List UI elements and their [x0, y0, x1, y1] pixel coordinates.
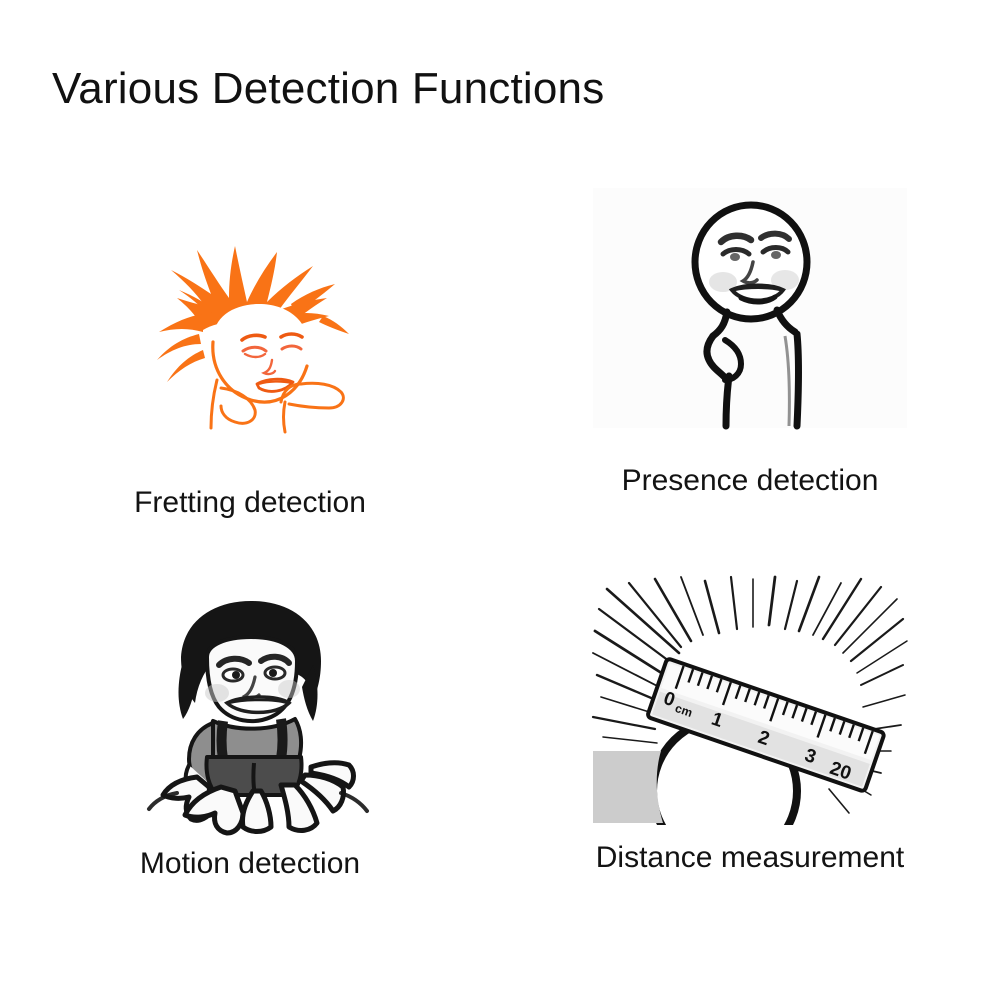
card-caption-motion: Motion detection	[140, 845, 360, 883]
standing-stick-figure-icon	[585, 184, 915, 434]
card-caption-distance: Distance measurement	[596, 839, 904, 877]
page-root: Various Detection Functions	[0, 0, 1000, 1000]
spiky-orange-hair-face-icon	[85, 212, 415, 462]
card-distance-measurement[interactable]: 0 cm 1 2 3 20 Distance measurement	[500, 565, 1000, 960]
card-caption-presence: Presence detection	[622, 462, 879, 500]
card-presence-detection[interactable]: Presence detection	[500, 170, 1000, 565]
card-fretting-detection[interactable]: Fretting detection	[0, 170, 500, 565]
running-figure-icon	[85, 587, 415, 837]
ruler-over-head-icon: 0 cm 1 2 3 20	[585, 575, 915, 825]
card-motion-detection[interactable]: Motion detection	[0, 565, 500, 960]
card-caption-fretting: Fretting detection	[134, 484, 366, 522]
detection-functions-grid: Fretting detection	[0, 170, 1000, 960]
page-title: Various Detection Functions	[52, 62, 604, 116]
